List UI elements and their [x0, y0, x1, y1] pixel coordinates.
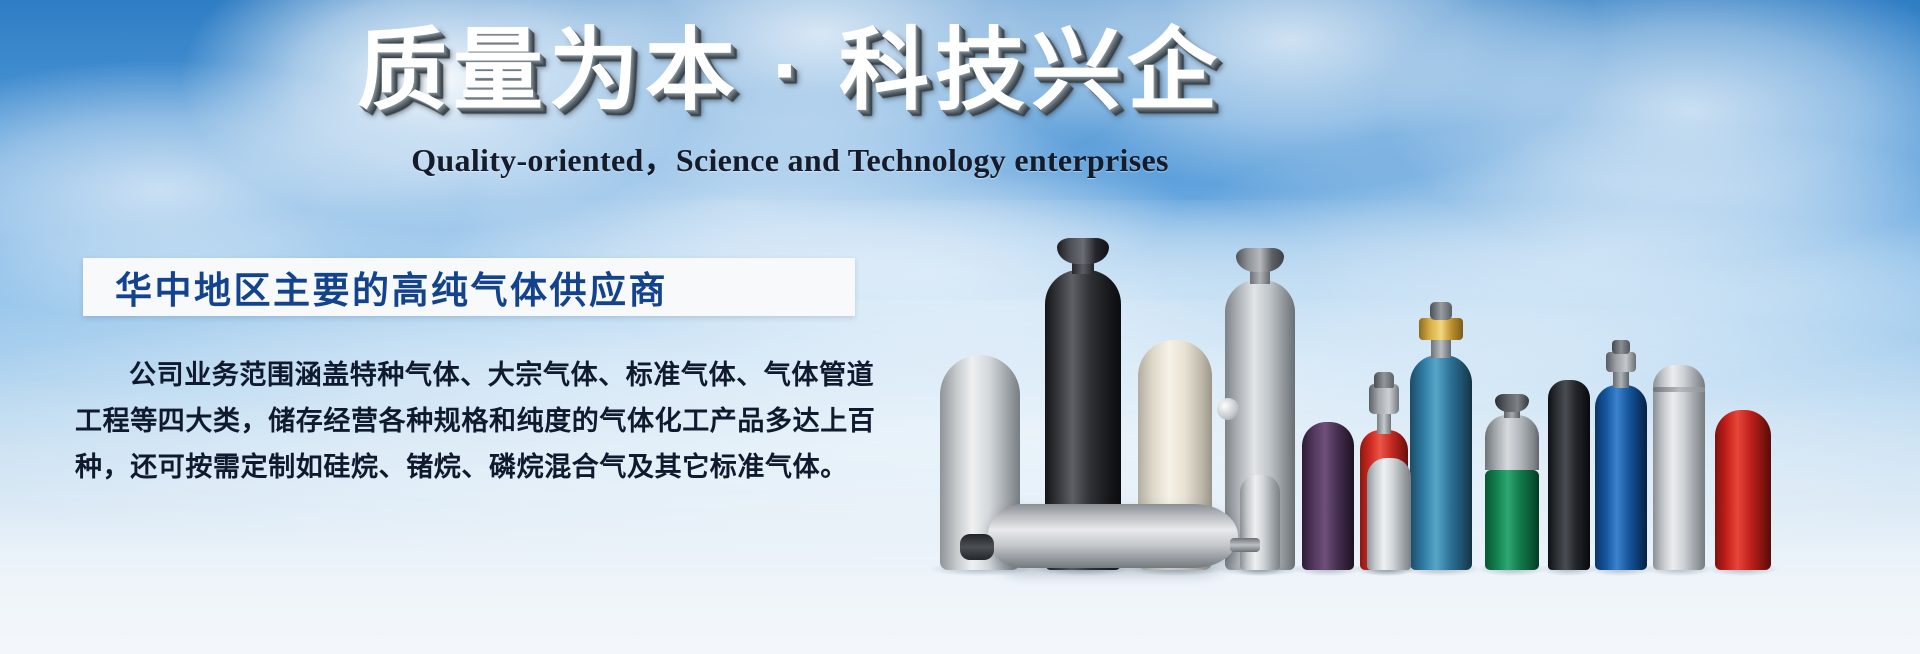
cylinder-upper-body [1485, 415, 1539, 470]
cylinder-body [1367, 458, 1411, 570]
cylinder-green [1485, 395, 1539, 570]
description-line-3: 种，还可按需定制如硅烷、锗烷、磷烷混合气及其它标准气体。 [75, 444, 885, 490]
tagline-text: 华中地区主要的高纯气体供应商 [83, 260, 668, 314]
cylinder-small-aluminium-bottle-2 [1240, 475, 1280, 570]
horizontal-tank-neck [1230, 538, 1260, 552]
cylinder-valve-knob [1612, 340, 1630, 354]
gas-company-banner: 质量为本 · 科技兴企 Quality-oriented，Science and… [0, 0, 1920, 654]
horizontal-grey-tank [988, 504, 1238, 568]
cylinder-blue [1595, 340, 1647, 570]
cylinder-body [1548, 380, 1590, 570]
cylinder-body [1653, 365, 1705, 570]
banner-description: 公司业务范围涵盖特种气体、大宗气体、标准气体、气体管道 工程等四大类，储存经营各… [75, 352, 885, 490]
cylinder-body [1240, 475, 1280, 570]
cylinder-brass-valve [1419, 318, 1463, 340]
cylinder-valve-knob [1374, 372, 1394, 388]
banner-headline: 质量为本 · 科技兴企 [330, 22, 1250, 121]
cylinder-red-round [1715, 410, 1771, 570]
cylinder-cap [1057, 238, 1109, 264]
description-line-2: 工程等四大类，储存经营各种规格和纯度的气体化工产品多达上百 [75, 398, 885, 444]
cylinder-body [1302, 422, 1354, 570]
cylinder-body [1595, 385, 1647, 570]
cylinder-body [1715, 410, 1771, 570]
cylinder-purple-small [1302, 422, 1354, 570]
tagline-box: 华中地区主要的高纯气体供应商 [83, 258, 855, 316]
cylinder-dark-slim [1548, 380, 1590, 570]
cylinder-cap [1495, 394, 1529, 412]
cylinder-teal-blue [1410, 290, 1472, 570]
cylinder-cap [1236, 248, 1284, 272]
cylinder-valve [1606, 352, 1636, 372]
cylinder-aluminium [1653, 365, 1705, 570]
description-line-1: 公司业务范围涵盖特种气体、大宗气体、标准气体、气体管道 [75, 352, 885, 398]
cylinder-body [1410, 355, 1472, 570]
cylinder-valve-cap [1430, 302, 1452, 320]
horizontal-tank-valve [960, 534, 994, 560]
cylinder-small-aluminium-bottle [1367, 458, 1411, 570]
cylinder-ring [1653, 387, 1705, 392]
cylinder-valve-body [1369, 384, 1399, 414]
cylinder-body [1485, 470, 1539, 570]
gas-cylinder-product-group [940, 150, 1560, 570]
cylinder-valve-handle [1217, 398, 1239, 420]
